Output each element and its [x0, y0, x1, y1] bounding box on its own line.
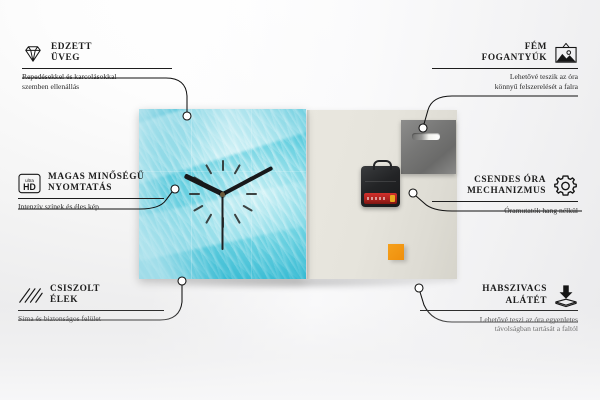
callout-silent-mechanism[interactable]: CSENDES ÓRA MECHANIZMUS Óramutatók hang … [432, 174, 578, 215]
callout-divider [432, 68, 578, 69]
gear-icon [553, 174, 578, 198]
callout-desc-line2: szemben ellenállás [22, 82, 172, 91]
callout-metal-handles[interactable]: FÉM FOGANTYÚK Lehetővé teszik az óra kön… [432, 42, 578, 91]
callout-desc-line1: Lehetővé teszi az óra egyenletes [420, 315, 578, 324]
callout-desc-line2: könnyű felszerelését a falra [432, 82, 578, 91]
clock-mechanism [361, 166, 400, 207]
diamond-icon [22, 44, 44, 63]
callout-title-line1: CSISZOLT [50, 284, 100, 295]
mechanism-hanging-loop [373, 160, 392, 170]
clock-second-hand [222, 194, 224, 250]
callout-desc-line1: Óramutatók hang nélkül [432, 206, 578, 215]
battery [364, 193, 397, 204]
callout-divider [18, 198, 164, 199]
clock-center-pin [220, 192, 225, 197]
callout-polished-edges[interactable]: CSISZOLT ÉLEK Sima és biztonságos felüle… [18, 284, 164, 324]
callout-title-line1: MAGAS MINŐSÉGŰ [48, 172, 144, 183]
callout-divider [420, 310, 578, 311]
clock-panel-edge [307, 110, 310, 279]
callout-title-line1: EDZETT [51, 42, 92, 53]
callout-desc-line2: távolságban tartását a faltól [420, 324, 578, 333]
hanger-keyhole-slot [412, 133, 440, 140]
mechanism-seam [365, 181, 396, 182]
callout-title-line2: ALÁTÉT [482, 296, 547, 307]
polished-edges-icon [18, 286, 43, 305]
callout-title-line2: FOGANTYÚK [482, 53, 547, 64]
callout-title-line1: HABSZIVACS [482, 284, 547, 295]
callout-high-quality-print[interactable]: ultra HD MAGAS MINŐSÉGŰ NYOMTATÁS Intenz… [18, 172, 164, 212]
callout-foam-pad[interactable]: HABSZIVACS ALÁTÉT Lehetővé teszi az óra … [420, 284, 578, 333]
clock-front-face [139, 109, 306, 279]
callout-title-line1: CSENDES ÓRA [467, 175, 546, 186]
callout-desc-line1: Sima és biztonságos felület [18, 314, 164, 323]
callout-title-line2: ÉLEK [50, 295, 100, 306]
callout-title-line2: NYOMTATÁS [48, 183, 144, 194]
callout-desc-line1: Repedésekkel és karcolásokkal [22, 72, 172, 81]
callout-divider [18, 310, 164, 311]
product-image [139, 109, 457, 281]
ultra-hd-large-text: HD [23, 182, 36, 192]
callout-title-line1: FÉM [482, 42, 547, 53]
metal-hanger-plate [401, 120, 456, 174]
callout-tempered-glass[interactable]: EDZETT ÜVEG Repedésekkel és karcolásokka… [22, 42, 172, 91]
wall-mount-icon [554, 42, 578, 64]
callout-desc-line1: Lehetővé teszik az óra [432, 72, 578, 81]
ultra-hd-icon: ultra HD [18, 173, 41, 194]
callout-divider [22, 68, 172, 69]
foam-pad [388, 244, 404, 260]
callout-desc-line1: Intenzív színek és éles kép [18, 202, 164, 211]
callout-title-line2: MECHANIZMUS [467, 186, 546, 197]
callout-title-line2: ÜVEG [51, 53, 92, 64]
foam-pad-icon [554, 284, 578, 307]
callout-divider [432, 201, 578, 202]
infographic-canvas: EDZETT ÜVEG Repedésekkel és karcolásokka… [0, 0, 600, 400]
